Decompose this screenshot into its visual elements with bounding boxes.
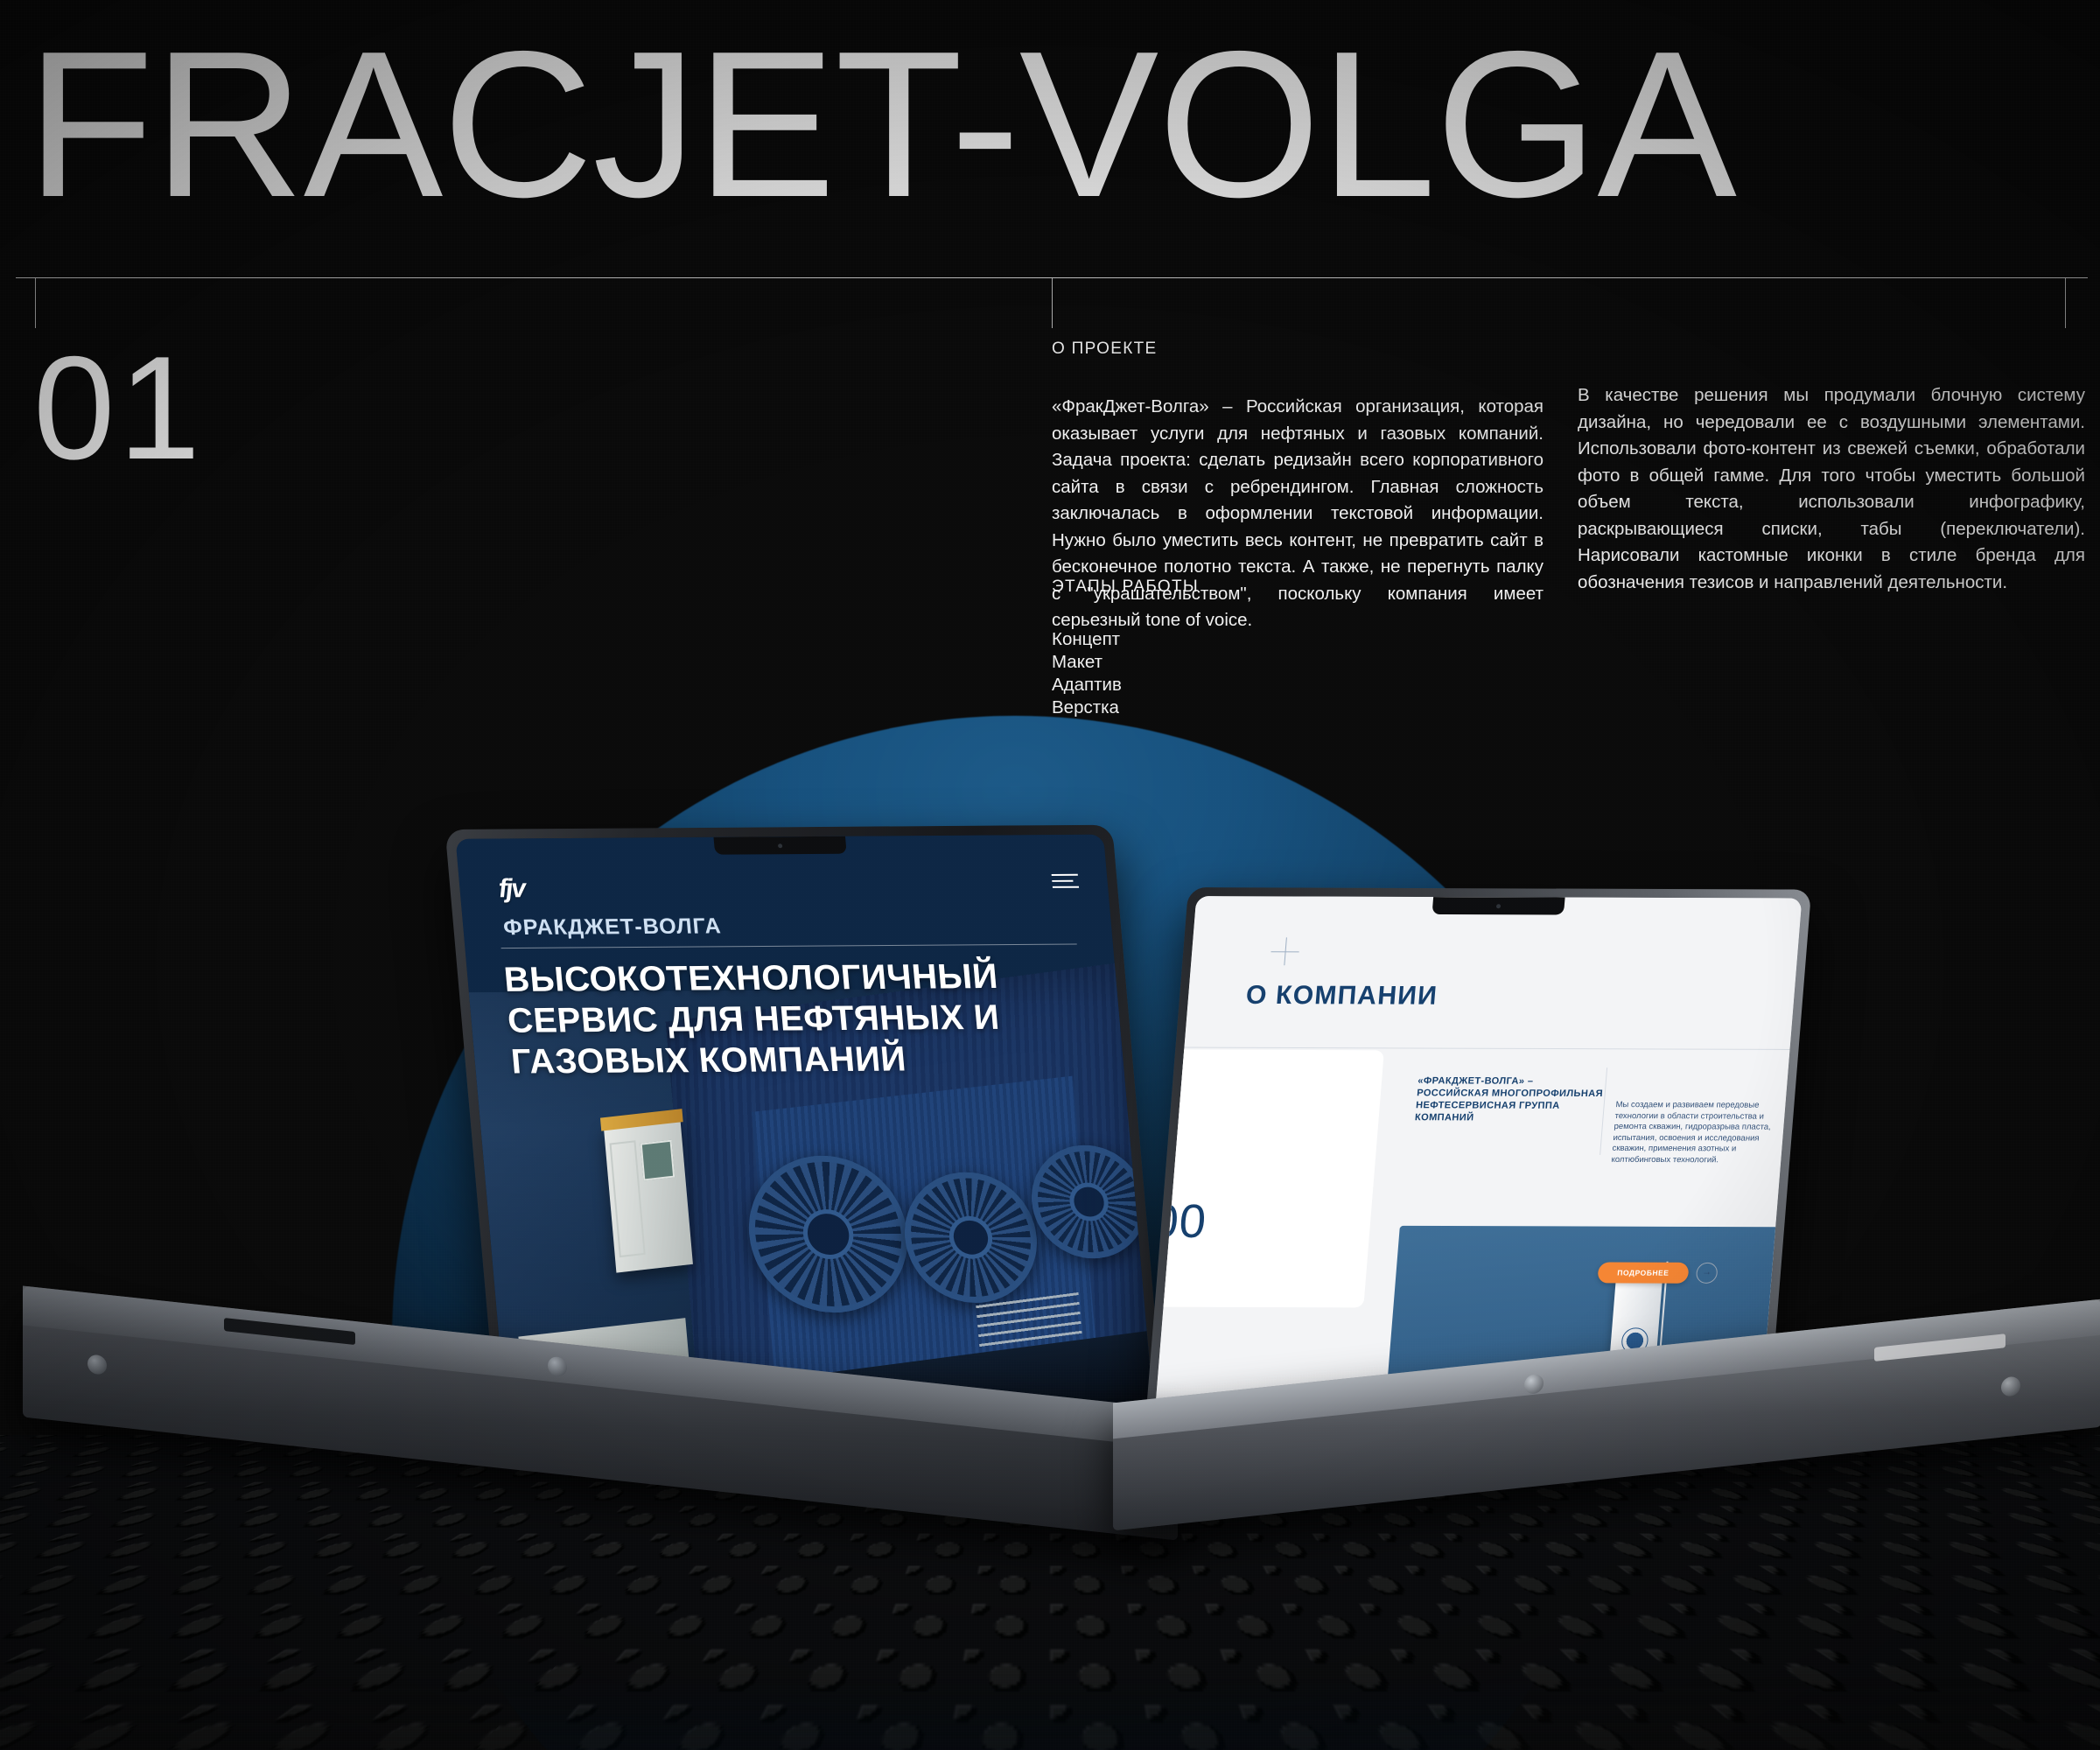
list-item: Макет	[1052, 651, 1472, 674]
list-item: Адаптив	[1052, 674, 1472, 696]
hero-kicker: ФРАКДЖЕТ-ВОЛГА	[502, 913, 723, 941]
page-title: FRACJET-VOLGA	[26, 24, 2093, 226]
hamburger-menu-icon[interactable]	[1051, 873, 1079, 889]
laptop-mockup-stage: fjv ФРАКДЖЕТ-ВОЛГА ВЫСОКОТЕХНОЛОГИЧНЫЙ С…	[0, 822, 2100, 1750]
menu-line	[1052, 879, 1074, 881]
stages-block: ЭТАПЫ РАБОТЫ Концепт Макет Адаптив Верст…	[1052, 577, 1472, 719]
cabin-top-bar	[601, 1109, 683, 1130]
about-lead: «ФРАКДЖЕТ-ВОЛГА» – РОССИЙСКАЯ МНОГОПРОФИ…	[1414, 1074, 1606, 1124]
rubber-foot	[87, 1354, 107, 1375]
solution-paragraph: В качестве решения мы продумали блочную …	[1578, 382, 2085, 596]
laptop-left-screen: fjv ФРАКДЖЕТ-ВОЛГА ВЫСОКОТЕХНОЛОГИЧНЫЙ С…	[456, 835, 1155, 1429]
solution-column: В качестве решения мы продумали блочную …	[1578, 382, 2085, 596]
webcam-icon	[778, 843, 782, 848]
webcam-icon	[1496, 904, 1501, 908]
tick-mark-left	[35, 278, 36, 328]
hero-divider	[500, 944, 1077, 949]
webcam-notch	[1432, 897, 1565, 914]
list-item: Верстка	[1052, 696, 1472, 719]
details-button[interactable]: ПОДРОБНЕЕ	[1597, 1262, 1689, 1283]
equipment-cabin	[604, 1117, 693, 1272]
page-root: FRACJET-VOLGA 01 О ПРОЕКТЕ «ФракДжет-Вол…	[0, 0, 2100, 1750]
about-eyebrow: О ПРОЕКТЕ	[1052, 339, 1543, 359]
arrow-right-icon[interactable]: →	[1696, 1262, 1718, 1283]
cabin-window	[640, 1139, 675, 1180]
tick-mark-right	[2065, 278, 2066, 328]
rubber-foot	[2001, 1375, 2020, 1396]
menu-line	[1051, 873, 1077, 875]
brand-logo[interactable]: fjv	[497, 874, 525, 904]
details-button-group[interactable]: ПОДРОБНЕЕ →	[1597, 1262, 1718, 1283]
site-hero: fjv ФРАКДЖЕТ-ВОЛГА ВЫСОКОТЕХНОЛОГИЧНЫЙ С…	[456, 835, 1155, 1429]
about-paragraph-inner: Мы создаем и развиваем передовые техноло…	[1611, 1100, 1780, 1165]
plus-marker-icon	[1270, 937, 1300, 965]
list-item: Концепт	[1052, 628, 1472, 651]
stages-list: Концепт Макет Адаптив Верстка	[1052, 628, 1472, 719]
webcam-notch	[713, 836, 846, 855]
stages-eyebrow: ЭТАПЫ РАБОТЫ	[1052, 577, 1472, 597]
tick-mark-center	[1052, 278, 1053, 328]
menu-line	[1053, 885, 1079, 887]
hero-headline: ВЫСОКОТЕХНОЛОГИЧНЫЙ СЕРВИС ДЛЯ НЕФТЯНЫХ …	[502, 955, 1109, 1082]
section-number: 01	[33, 334, 204, 481]
cabin-door	[610, 1140, 646, 1257]
about-heading: О КОМПАНИИ	[1245, 981, 1439, 1011]
